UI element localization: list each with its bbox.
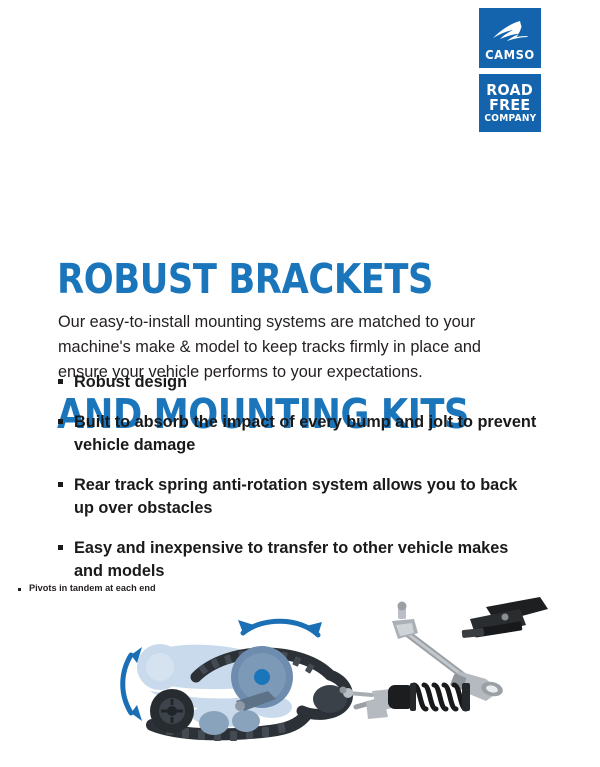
- mid-bogie-wheel-2: [232, 710, 260, 732]
- list-item-label: Easy and inexpensive to transfer to othe…: [74, 539, 508, 580]
- page-title-line-1: ROBUST BRACKETS: [57, 257, 469, 302]
- road-free-company-logo: ROAD FREE COMPANY: [479, 74, 541, 132]
- feature-list: Robust design Built to absorb the impact…: [57, 371, 537, 600]
- list-item: Easy and inexpensive to transfer to othe…: [57, 537, 537, 583]
- bullet-square-icon: [58, 379, 63, 384]
- footnote: Pivots in tandem at each end: [18, 583, 156, 593]
- mid-bogie-wheel: [199, 711, 229, 735]
- bullet-square-icon: [58, 482, 63, 487]
- anti-rotation-bracket-hardware-photo: [340, 597, 549, 719]
- front-bogie-hub: [167, 706, 177, 716]
- mounting-bracket: [462, 597, 548, 638]
- pivot-arrow-top: [238, 620, 322, 635]
- list-item-label: Built to absorb the impact of every bump…: [74, 413, 536, 454]
- bullet-square-icon: [58, 545, 63, 550]
- camso-chevron-mark: [490, 20, 530, 46]
- bullet-square-icon: [58, 419, 63, 424]
- bullet-square-icon: [18, 588, 21, 591]
- road-free-line-2: FREE: [489, 98, 530, 113]
- camso-logo: CAMSO: [479, 8, 541, 68]
- list-item: Robust design: [57, 371, 537, 394]
- road-free-line-3: COMPANY: [484, 114, 536, 124]
- spring-damper-rod: [340, 683, 471, 719]
- camso-wordmark: CAMSO: [485, 47, 535, 62]
- list-item: Built to absorb the impact of every bump…: [57, 411, 537, 457]
- logo-stack: CAMSO ROAD FREE COMPANY: [479, 8, 541, 132]
- coil-spring: [414, 685, 466, 709]
- list-item-label: Robust design: [74, 373, 187, 391]
- rubber-track-pivot-diagram: [123, 620, 348, 741]
- figure-graphics: [0, 595, 600, 767]
- pivot-joint: [235, 701, 245, 711]
- list-item: Rear track spring anti-rotation system a…: [57, 474, 537, 520]
- figure-area: [0, 595, 600, 767]
- sprocket-hub: [254, 669, 270, 685]
- footnote-label: Pivots in tandem at each end: [29, 583, 156, 593]
- list-item-label: Rear track spring anti-rotation system a…: [74, 476, 517, 517]
